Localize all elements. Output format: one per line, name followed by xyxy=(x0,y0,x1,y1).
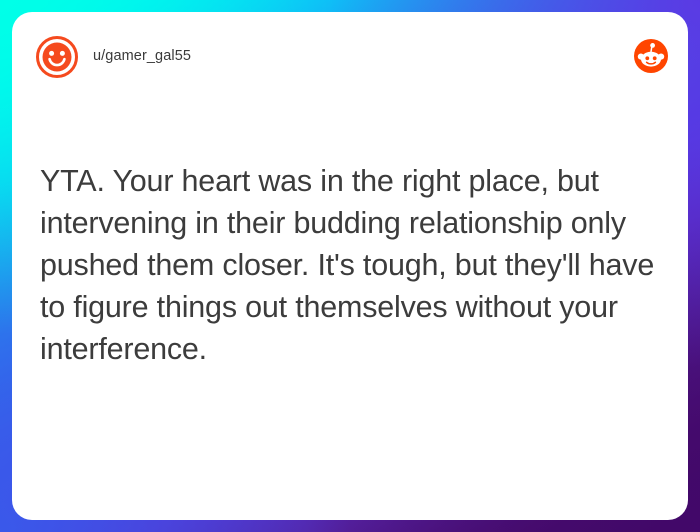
reddit-snoo-icon xyxy=(634,39,668,73)
card-header: u/gamer_gal55 xyxy=(12,12,688,98)
comment-text: YTA. Your heart was in the right place, … xyxy=(40,160,664,370)
username-label[interactable]: u/gamer_gal55 xyxy=(93,48,191,64)
avatar[interactable] xyxy=(35,35,79,79)
reddit-comment-card: u/gamer_gal55 YTA. Your heart was in the… xyxy=(12,12,688,520)
screenshot-stage: u/gamer_gal55 YTA. Your heart was in the… xyxy=(0,0,700,532)
